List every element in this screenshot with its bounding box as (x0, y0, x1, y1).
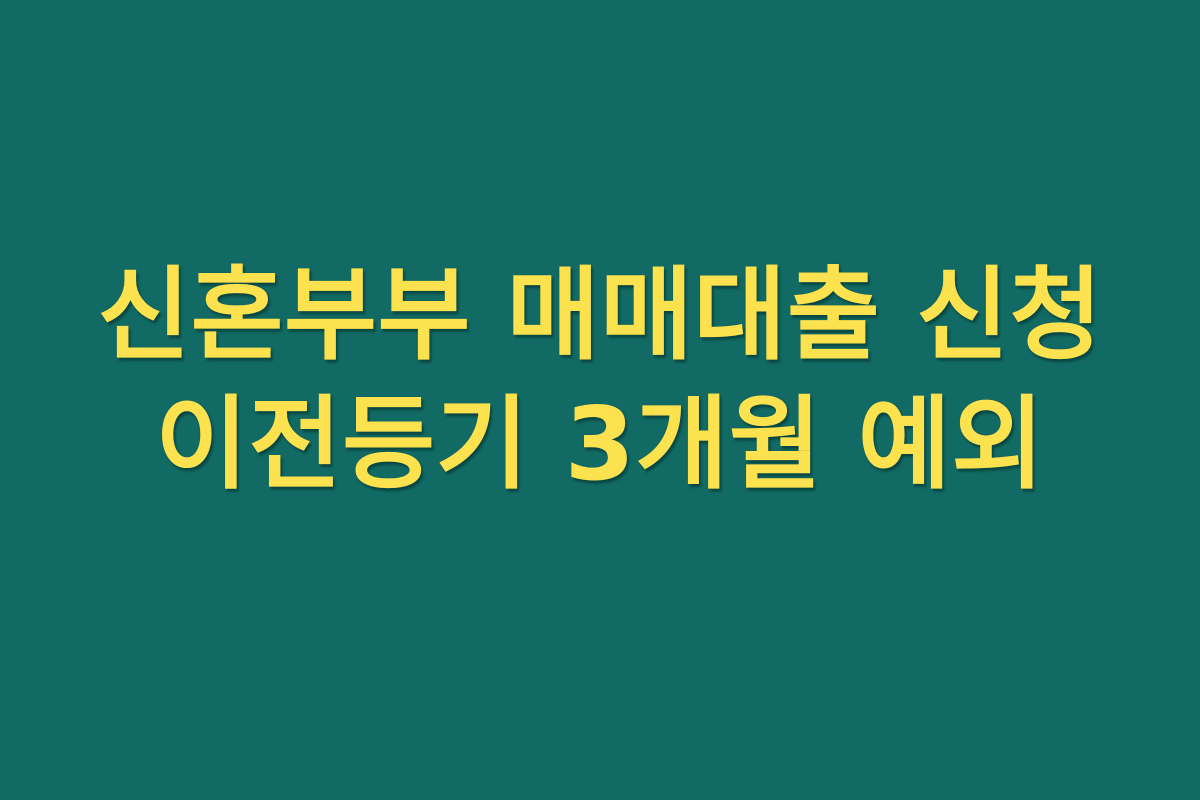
headline-line-1: 신혼부부 매매대출 신청 (97, 251, 1103, 380)
headline-line-2: 이전등기 3개월 예외 (155, 380, 1045, 509)
headline-block: 신혼부부 매매대출 신청 이전등기 3개월 예외 (0, 251, 1200, 510)
banner-canvas: 신혼부부 매매대출 신청 이전등기 3개월 예외 (0, 0, 1200, 800)
